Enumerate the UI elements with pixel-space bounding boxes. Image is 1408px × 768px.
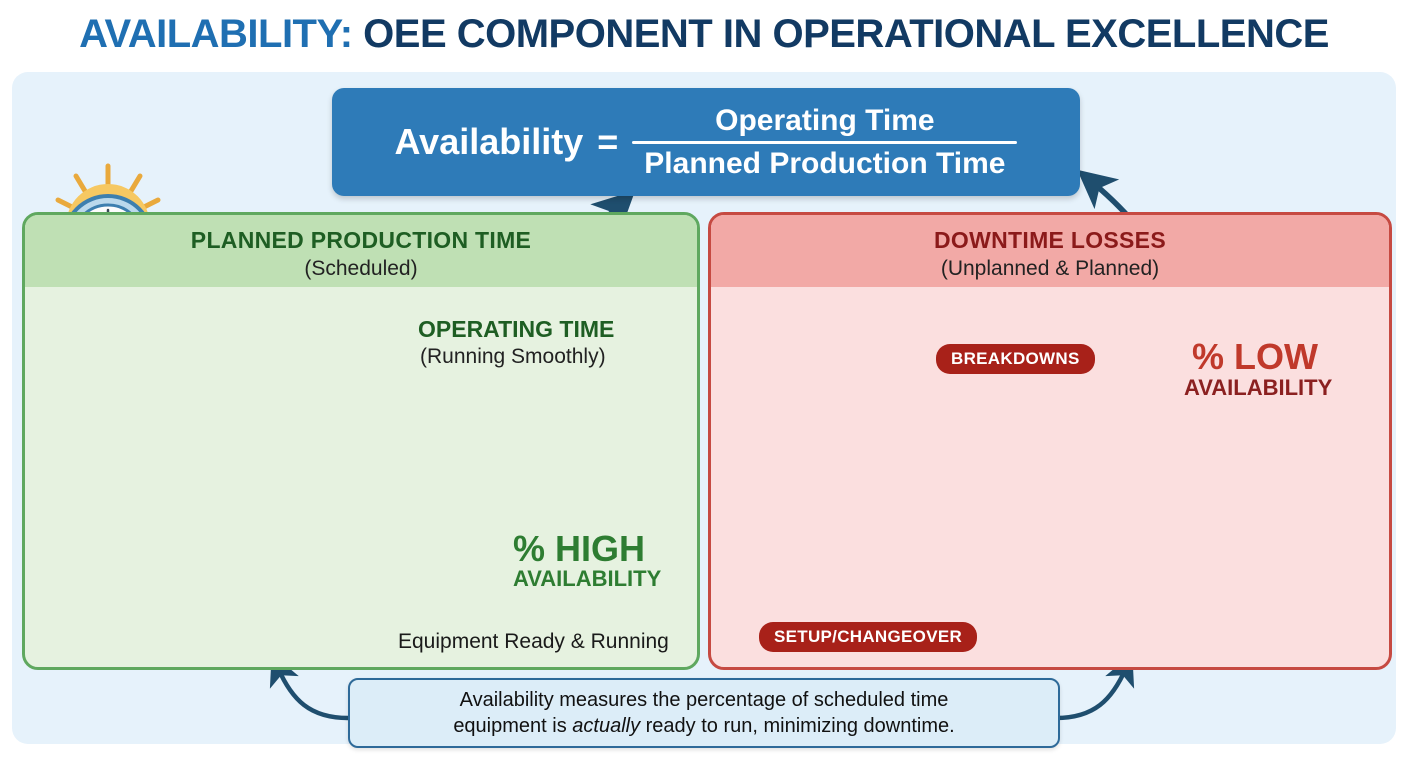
- formula-equals: =: [597, 121, 618, 163]
- right-panel-title: DOWNTIME LOSSES: [711, 227, 1389, 254]
- formula-lhs: Availability: [395, 121, 584, 163]
- right-panel-subtitle: (Unplanned & Planned): [711, 257, 1389, 281]
- caption-emphasis: actually: [572, 715, 640, 737]
- caption-box: Availability measures the percentage of …: [348, 678, 1060, 748]
- infographic-root: AVAILABILITY: OEE COMPONENT IN OPERATION…: [0, 0, 1408, 768]
- left-panel-subtitle: (Scheduled): [25, 257, 697, 281]
- formula-numerator: Operating Time: [703, 104, 947, 141]
- formula-fraction: Operating Time Planned Production Time: [632, 104, 1017, 181]
- high-availability-label: AVAILABILITY: [513, 566, 661, 592]
- operating-time-label: OPERATING TIME: [418, 316, 614, 343]
- caption-line-2: equipment is actually ready to run, mini…: [453, 713, 954, 739]
- status-badge-setup-changeover: SETUP/CHANGEOVER: [759, 622, 977, 652]
- high-availability-value: % HIGH: [513, 528, 645, 570]
- formula-denominator: Planned Production Time: [632, 144, 1017, 181]
- availability-formula-box: Availability = Operating Time Planned Pr…: [332, 88, 1080, 196]
- page-title-accent: AVAILABILITY:: [79, 12, 352, 56]
- page-title: AVAILABILITY: OEE COMPONENT IN OPERATION…: [0, 12, 1408, 57]
- low-availability-label: AVAILABILITY: [1184, 375, 1332, 401]
- caption-line-1: Availability measures the percentage of …: [460, 687, 949, 713]
- equipment-ready-label: Equipment Ready & Running: [398, 630, 669, 654]
- panel-planned-production-time: PLANNED PRODUCTION TIME (Scheduled): [22, 212, 700, 670]
- caption-line-2-a: equipment is: [453, 715, 572, 737]
- caption-line-2-b: ready to run, minimizing downtime.: [640, 715, 955, 737]
- left-panel-title: PLANNED PRODUCTION TIME: [25, 227, 697, 254]
- operating-time-sublabel: (Running Smoothly): [420, 345, 606, 369]
- panel-downtime-losses: DOWNTIME LOSSES (Unplanned & Planned): [708, 212, 1392, 670]
- page-title-main: OEE COMPONENT IN OPERATIONAL EXCELLENCE: [353, 12, 1329, 56]
- status-badge-breakdowns: BREAKDOWNS: [936, 344, 1095, 374]
- low-availability-value: % LOW: [1192, 336, 1318, 378]
